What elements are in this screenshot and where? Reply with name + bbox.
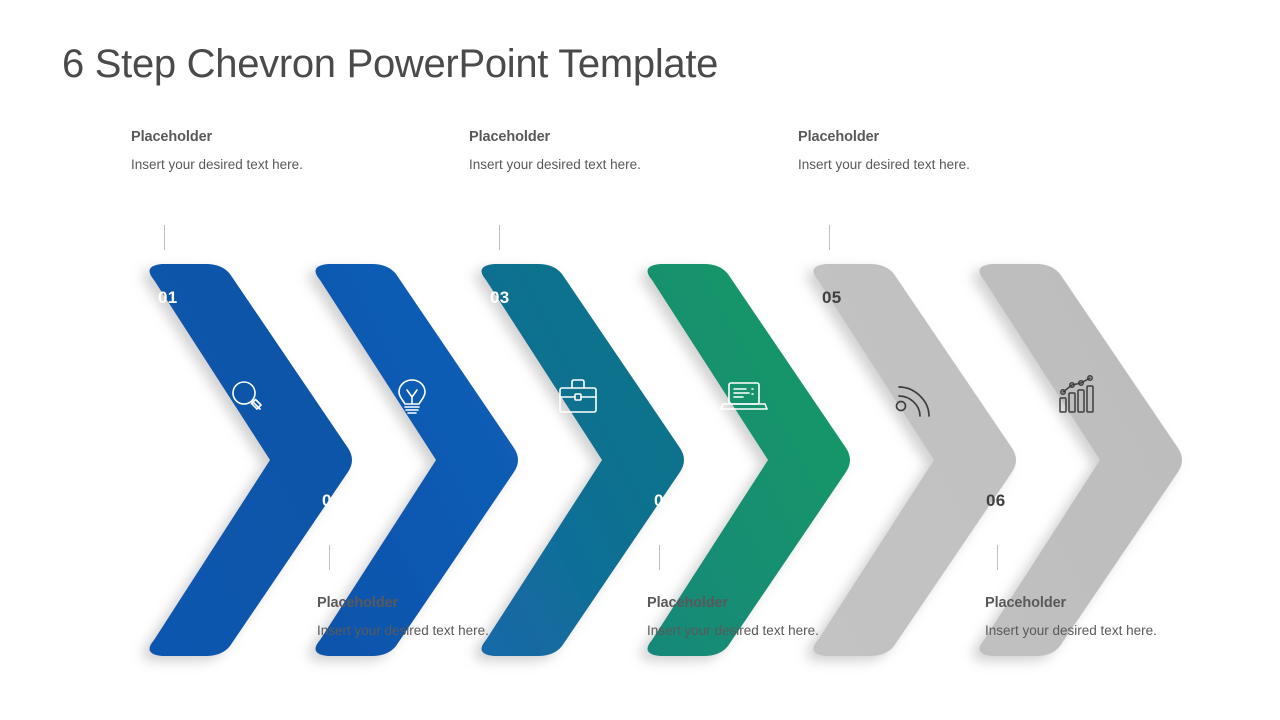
step-text-block-3: Placeholder Insert your desired text her… [469, 129, 659, 175]
step-heading-6: Placeholder [985, 595, 1175, 611]
chevron-number-3: 03 [490, 288, 510, 308]
step-text-block-5: Placeholder Insert your desired text her… [798, 129, 988, 175]
step-text-block-1: Placeholder Insert your desired text her… [131, 129, 321, 175]
step-heading-5: Placeholder [798, 129, 988, 145]
step-body-5: Insert your desired text here. [798, 155, 988, 175]
briefcase-icon [560, 380, 596, 412]
connector-line-1 [164, 225, 165, 250]
laptop-icon [721, 383, 767, 409]
lightbulb-icon [399, 380, 425, 413]
connector-line-3 [499, 225, 500, 250]
step-body-3: Insert your desired text here. [469, 155, 659, 175]
step-body-6: Insert your desired text here. [985, 621, 1175, 641]
bar-chart-icon [1060, 376, 1093, 412]
step-heading-2: Placeholder [317, 595, 507, 611]
connector-line-2 [329, 545, 330, 570]
chevron-number-4: 04 [654, 491, 674, 511]
connector-line-5 [829, 225, 830, 250]
step-body-2: Insert your desired text here. [317, 621, 507, 641]
connector-line-4 [659, 545, 660, 570]
step-body-1: Insert your desired text here. [131, 155, 321, 175]
chevron-number-2: 02 [322, 491, 342, 511]
rss-signal-icon [897, 387, 930, 416]
step-heading-3: Placeholder [469, 129, 659, 145]
step-text-block-2: Placeholder Insert your desired text her… [317, 595, 507, 641]
step-text-block-4: Placeholder Insert your desired text her… [647, 595, 837, 641]
chevron-number-1: 01 [158, 288, 178, 308]
connector-line-6 [997, 545, 998, 570]
magnifier-icon [233, 382, 261, 409]
step-heading-1: Placeholder [131, 129, 321, 145]
step-text-block-6: Placeholder Insert your desired text her… [985, 595, 1175, 641]
chevron-number-6: 06 [986, 491, 1006, 511]
step-body-4: Insert your desired text here. [647, 621, 837, 641]
page-title: 6 Step Chevron PowerPoint Template [62, 42, 718, 87]
chevron-number-5: 05 [822, 288, 842, 308]
step-heading-4: Placeholder [647, 595, 837, 611]
